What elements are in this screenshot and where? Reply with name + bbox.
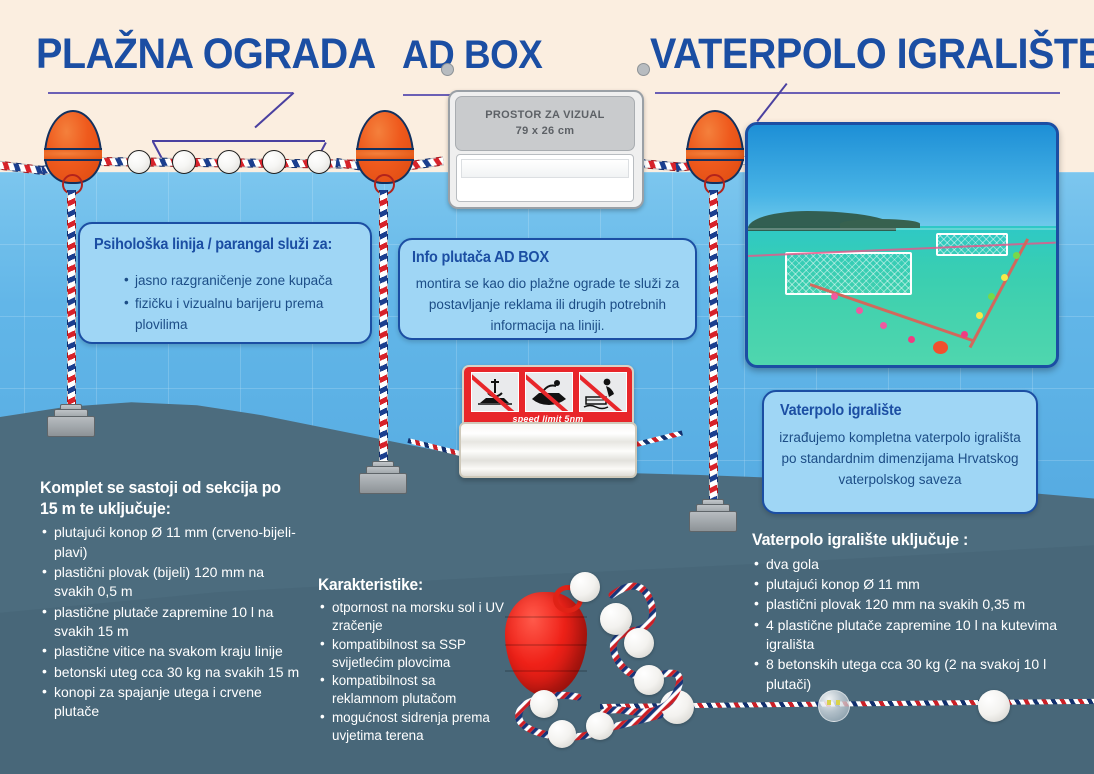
photo-horizon xyxy=(748,228,1056,230)
tangle-float xyxy=(624,628,654,658)
list-item: mogućnost sidrenja prema uvjetima terena xyxy=(318,709,504,745)
block-title: Karakteristike: xyxy=(318,575,493,595)
title-underline-left xyxy=(48,92,293,94)
no-jetski-icon xyxy=(579,372,627,412)
ad-box-visual-area: PROSTOR ZA VIZUAL 79 x 26 cm xyxy=(455,96,635,151)
list-item: plutajući konop Ø 11 mm (crveno-bijeli-p… xyxy=(40,523,302,562)
no-anchoring-icon xyxy=(471,372,519,412)
water-polo-court-photo xyxy=(745,122,1059,368)
infobox-body: jasno razgraničenje zone kupača fizičku … xyxy=(108,264,360,338)
block-title: Vaterpolo igralište uključuje : xyxy=(752,530,1043,551)
tangle-float xyxy=(600,603,632,635)
surface-float xyxy=(217,150,241,174)
infobox-vaterpolo-igraliste: Vaterpolo igralište izrađujemo kompletna… xyxy=(762,390,1038,514)
weight-base-block xyxy=(47,416,95,437)
bullet-list: otpornost na morsku sol i UV zračenje ko… xyxy=(318,599,504,745)
anchor-rope-left xyxy=(67,190,76,412)
photo-buoy xyxy=(1001,274,1008,281)
text-block-karakteristike: Karakteristike: otpornost na morsku sol … xyxy=(318,575,504,746)
photo-buoy-main xyxy=(933,341,948,354)
weight-base-block xyxy=(689,511,737,532)
infobox-bullet-list: jasno razgraničenje zone kupača fizičku … xyxy=(108,271,360,336)
surface-float xyxy=(127,150,151,174)
ad-box-placeholder-line1: PROSTOR ZA VIZUAL xyxy=(485,108,604,124)
tangle-float xyxy=(570,572,600,602)
infobox-paragraph: montira se kao dio plažne ograde te služ… xyxy=(410,274,685,337)
led-lamp xyxy=(827,700,831,705)
list-item: jasno razgraničenje zone kupača xyxy=(124,271,360,292)
tangle-float xyxy=(548,720,576,748)
adbox-eyelet-right xyxy=(637,63,650,76)
list-item: plastični plovak (bijeli) 120 mm na svak… xyxy=(40,563,302,602)
ad-box-sign: PROSTOR ZA VIZUAL 79 x 26 cm xyxy=(448,90,644,209)
title-ad-box: AD BOX xyxy=(402,35,542,75)
title-underline-right xyxy=(655,92,1060,94)
photo-buoy xyxy=(880,322,887,329)
adbox-eyelet-left xyxy=(441,63,454,76)
pictogram-row xyxy=(471,372,627,412)
tangle-float xyxy=(530,690,558,718)
list-item: fizičku i vizualnu barijeru prema plovil… xyxy=(124,294,360,336)
title-plazna-ograda: PLAŽNA OGRADA xyxy=(36,33,376,76)
photo-buoy xyxy=(831,293,838,300)
ssp-led-float xyxy=(818,690,850,722)
list-item: betonski uteg cca 30 kg na svakih 15 m xyxy=(40,663,302,682)
no-motorboat-icon xyxy=(525,372,573,412)
text-block-komplet: Komplet se sastoji od sekcija po 15 m te… xyxy=(40,478,302,723)
anchor-rope-right xyxy=(709,190,718,506)
photo-island-ridge xyxy=(840,219,920,229)
title-vaterpolo-igraliste: VATERPOLO IGRALIŠTE xyxy=(650,33,1094,76)
ad-box-placeholder-line2: 79 x 26 cm xyxy=(516,124,575,140)
infobox-psiholoska-linija: Psihološka linija / parangal služi za: j… xyxy=(78,222,372,344)
surface-float xyxy=(307,150,331,174)
anchor-rope-middle xyxy=(379,190,388,468)
tangle-float xyxy=(634,665,664,695)
speed-sign-float-body xyxy=(459,422,637,478)
surface-float xyxy=(262,150,286,174)
photo-buoy xyxy=(976,312,983,319)
list-item: otpornost na morsku sol i UV zračenje xyxy=(318,599,504,635)
weight-base-block xyxy=(359,473,407,494)
photo-goal-near xyxy=(785,252,912,294)
photo-buoy xyxy=(961,331,968,338)
infobox-paragraph: izrađujemo kompletna vaterpolo igrališta… xyxy=(774,428,1026,491)
tangle-float xyxy=(586,712,614,740)
concrete-weight-middle xyxy=(359,462,405,494)
list-item: kompatibilnost sa reklamnom plutačom xyxy=(318,672,504,708)
infographic-canvas: PLAŽNA OGRADA AD BOX VATERPOLO IGRALIŠTE xyxy=(0,0,1094,774)
speed-limit-sign: speed limit 5nm xyxy=(462,365,634,429)
list-item: plastične plutače zapremine 10 l na svak… xyxy=(40,603,302,642)
surface-float xyxy=(172,150,196,174)
photo-buoy xyxy=(856,307,863,314)
list-item: plastične vitice na svakom kraju linije xyxy=(40,642,302,661)
photo-buoy xyxy=(1013,252,1020,259)
concrete-weight-left xyxy=(47,405,93,437)
leader-line-left-2 xyxy=(152,140,325,142)
concrete-weight-right xyxy=(689,500,735,532)
block-body: plutajući konop Ø 11 mm (crveno-bijeli-p… xyxy=(40,523,302,721)
infobox-title: Info plutača AD BOX xyxy=(412,249,549,267)
list-item: kompatibilnost sa SSP svijetlećim plovci… xyxy=(318,636,504,672)
infobox-title: Psihološka linija / parangal služi za: xyxy=(94,236,332,254)
bottom-white-float xyxy=(978,690,1010,722)
photo-buoy xyxy=(908,336,915,343)
bullet-list: plutajući konop Ø 11 mm (crveno-bijeli-p… xyxy=(40,523,302,721)
list-item: konopi za spajanje utega i crvene plutač… xyxy=(40,683,302,722)
led-lamp xyxy=(836,700,840,705)
infobox-info-plutaca-ad-box: Info plutača AD BOX montira se kao dio p… xyxy=(398,238,697,340)
infobox-title: Vaterpolo igralište xyxy=(780,402,901,420)
ad-box-float-body xyxy=(456,154,634,202)
block-title: Komplet se sastoji od sekcija po 15 m te… xyxy=(40,478,286,519)
block-body: otpornost na morsku sol i UV zračenje ko… xyxy=(318,599,504,745)
